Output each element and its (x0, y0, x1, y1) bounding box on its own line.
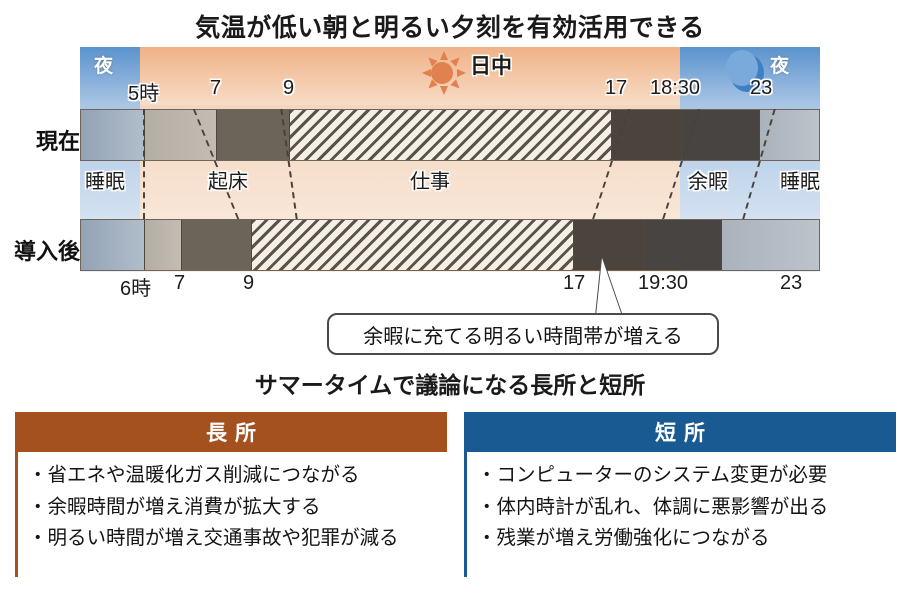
tick-top-2: 9 (283, 77, 294, 100)
pros-list: ・省エネや温暖化ガス削減につながる ・余暇時間が増え消費が拡大する ・明るい時間… (15, 452, 447, 577)
sun-ray (450, 55, 462, 67)
label-sleep2: 睡眠 (780, 165, 820, 194)
tick-bottom-2: 9 (243, 272, 254, 295)
activity-labels: 睡眠 起床 仕事 余暇 睡眠 (80, 165, 820, 205)
tick-top-3: 17 (605, 77, 627, 100)
block-commute2-current (611, 110, 681, 160)
tick-top-1: 7 (210, 77, 221, 100)
timeline-chart: 夜 夜 日中 5時 7 9 17 18:30 23 (80, 47, 820, 305)
row-label-after-intro: 導入後 (10, 234, 80, 266)
label-work: 仕事 (410, 165, 450, 194)
pros-panel: 長所 ・省エネや温暖化ガス削減につながる ・余暇時間が増え消費が拡大する ・明る… (15, 412, 447, 577)
sun-ray (457, 69, 466, 77)
list-item: ・コンピューターのシステム変更が必要 (473, 460, 896, 492)
block-work-after (251, 220, 573, 270)
block-wake-after (144, 220, 181, 270)
block-commute-after (181, 220, 251, 270)
tick-bottom-1: 7 (174, 272, 185, 295)
tick-top-5: 23 (750, 77, 772, 100)
pros-heading: 長所 (15, 412, 447, 452)
sun-ray (422, 69, 431, 77)
tick-bottom-5: 23 (780, 272, 802, 295)
label-wake: 起床 (208, 165, 248, 194)
tick-top-0: 5時 (128, 77, 159, 106)
tick-bottom-3: 17 (563, 272, 585, 295)
night-label-left: 夜 (94, 51, 113, 78)
cons-list: ・コンピューターのシステム変更が必要 ・体内時計が乱れ、体調に悪影響が出る ・残… (464, 452, 896, 577)
list-item: ・体内時計が乱れ、体調に悪影響が出る (473, 492, 896, 524)
time-axis-bottom: 6時 7 9 17 19:30 23 (80, 272, 820, 296)
section-title: サマータイムで議論になる長所と短所 (0, 366, 900, 400)
block-sleep-current (81, 110, 144, 160)
cons-panel: 短所 ・コンピューターのシステム変更が必要 ・体内時計が乱れ、体調に悪影響が出る… (464, 412, 896, 577)
label-leisure: 余暇 (688, 165, 728, 194)
timeline-row-current (80, 109, 820, 161)
row-label-current: 現在 (10, 124, 80, 156)
tick-top-4: 18:30 (650, 77, 700, 100)
block-commute-current (216, 110, 289, 160)
night-label-right: 夜 (770, 51, 789, 78)
list-item: ・省エネや温暖化ガス削減につながる (24, 460, 447, 492)
block-work-current (289, 110, 611, 160)
block-sleep2-after (721, 220, 819, 270)
block-sleep-after (81, 220, 144, 270)
tick-bottom-0: 6時 (120, 272, 151, 301)
callout-box: 余暇に充てる明るい時間帯が増える (327, 313, 719, 355)
tick-bottom-4: 19:30 (638, 272, 688, 295)
callout-pointer (596, 258, 622, 316)
page-title: 気温が低い朝と明るい夕刻を有効活用できる (0, 8, 900, 44)
label-sleep: 睡眠 (85, 165, 125, 194)
list-item: ・余暇時間が増え消費が拡大する (24, 492, 447, 524)
list-item: ・残業が増え労働強化につながる (473, 523, 896, 555)
sun-ray (440, 51, 448, 60)
cons-heading: 短所 (464, 412, 896, 452)
block-leisure-current (681, 110, 759, 160)
timeline-row-after (80, 219, 820, 271)
daytime-label: 日中 (470, 50, 512, 80)
list-item: ・明るい時間が増え交通事故や犯罪が減る (24, 523, 447, 555)
time-axis-top: 5時 7 9 17 18:30 23 (80, 77, 820, 101)
